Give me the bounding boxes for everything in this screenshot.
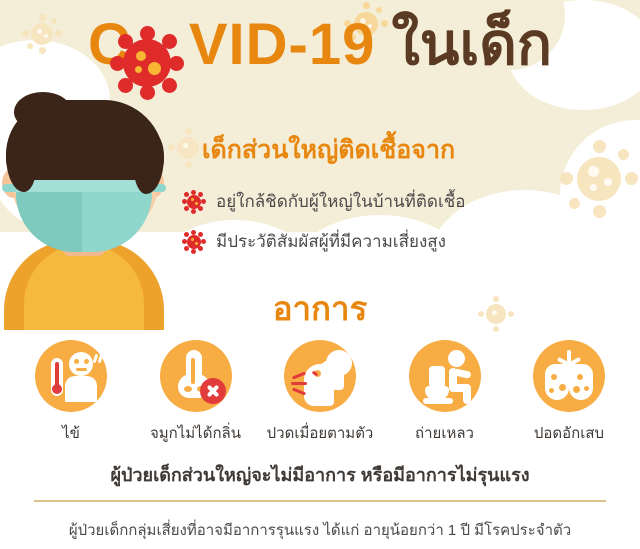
symptom-item: ถ่ายเหลว — [386, 340, 504, 445]
page-title: CVID-19 ในเด็ก — [0, 16, 640, 74]
symptom-item: จมูกไม่ได้กลิ่น — [137, 340, 255, 445]
footer-note: ผู้ป่วยเด็กกลุ่มเสี่ยงที่อาจมีอาการรุนแร… — [0, 518, 640, 542]
symptom-label: จมูกไม่ได้กลิ่น — [150, 421, 241, 445]
transmission-bullet-2-text: มีประวัติสัมผัสผู้ที่มีความเสี่ยงสูง — [216, 228, 446, 255]
virus-bullet-icon — [182, 190, 206, 214]
virus-icon — [110, 26, 184, 100]
transmission-heading: เด็กส่วนใหญ่ติดเชื้อจาก — [202, 130, 455, 170]
child-with-mask-illustration — [0, 92, 190, 288]
symptom-item: ปวดเมื่อยตามตัว — [261, 340, 379, 445]
symptoms-row: ไข้ จมูกไม่ได้กลิ่น — [12, 340, 628, 445]
transmission-bullet-2: มีประวัติสัมผัสผู้ที่มีความเสี่ยงสูง — [182, 228, 446, 255]
symptom-label: ถ่ายเหลว — [415, 421, 474, 445]
body-ache-icon — [284, 340, 356, 412]
symptom-label: ปอดอักเสบ — [534, 421, 604, 445]
symptom-item: ปอดอักเสบ — [510, 340, 628, 445]
toilet-diarrhea-icon — [409, 340, 481, 412]
symptoms-heading: อาการ — [0, 282, 640, 335]
infographic-poster: CVID-19 ในเด็ก เด็ก — [0, 0, 640, 549]
footer-divider — [34, 500, 606, 502]
transmission-bullet-1: อยู่ใกล้ชิดกับผู้ใหญ่ในบ้านที่ติดเชื้อ — [182, 188, 466, 215]
transmission-bullet-1-text: อยู่ใกล้ชิดกับผู้ใหญ่ในบ้านที่ติดเชื้อ — [216, 188, 466, 215]
fever-thermometer-icon — [35, 340, 107, 412]
nose-no-smell-icon — [160, 340, 232, 412]
symptom-item: ไข้ — [12, 340, 130, 445]
symptom-label: ไข้ — [62, 421, 80, 445]
virus-bullet-icon — [182, 230, 206, 254]
lungs-pneumonia-icon — [533, 340, 605, 412]
footer-statement: ผู้ป่วยเด็กส่วนใหญ่จะไม่มีอาการ หรือมีอา… — [0, 460, 640, 489]
title-thai-suffix: ในเด็ก — [391, 12, 552, 77]
symptom-label: ปวดเมื่อยตามตัว — [267, 421, 374, 445]
decorative-virus-icon — [560, 140, 638, 218]
title-brand-suffix: VID-19 — [189, 12, 376, 77]
